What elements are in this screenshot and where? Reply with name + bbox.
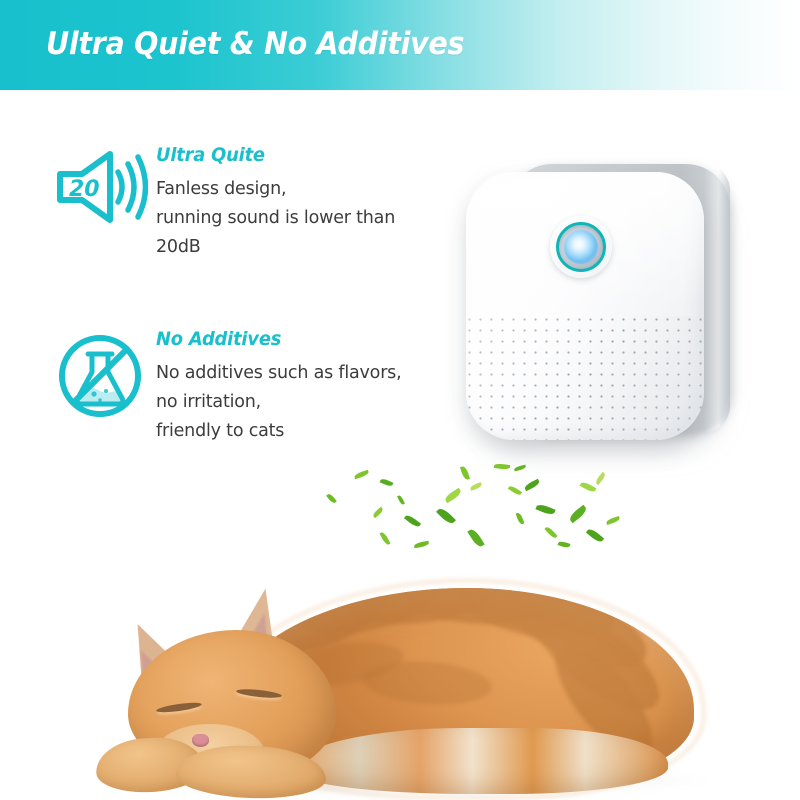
feature-body-line: 20dB [156, 233, 395, 262]
feature-block-no-additives: No Additives No additives such as flavor… [44, 326, 401, 446]
leaf [380, 478, 394, 488]
leaf [535, 503, 555, 517]
feature-heading: Ultra Quite [156, 144, 381, 166]
feature-heading: No Additives [156, 328, 387, 350]
leaf [580, 480, 597, 493]
leaf [514, 465, 527, 472]
feature-body-line: No additives such as flavors, [156, 359, 401, 388]
leaf [444, 488, 463, 503]
air-purifier-device [452, 152, 752, 472]
leaf [404, 513, 421, 528]
leaf [558, 540, 571, 548]
leaf [397, 495, 405, 506]
feature-block-ultra-quiet: 20 Ultra Quite Fanless design, running s… [44, 142, 395, 262]
feature-text-no-additives: No Additives No additives such as flavor… [156, 326, 401, 446]
device-vent-panel [466, 316, 704, 440]
leaf [380, 531, 391, 546]
speaker-icon-db-value: 20 [69, 177, 100, 202]
leaf [606, 516, 621, 525]
leaf [508, 485, 522, 497]
leaf [460, 465, 470, 480]
leaf [326, 493, 337, 505]
leaf [568, 505, 589, 524]
feature-body-line: friendly to cats [156, 417, 401, 446]
leaf [516, 512, 525, 525]
leaf [494, 463, 511, 470]
leaf [354, 470, 370, 479]
feature-body-line: no irritation, [156, 388, 401, 417]
sleeping-cat-photo [0, 556, 800, 800]
no-chemicals-flask-icon [44, 326, 156, 422]
feature-body-line: Fanless design, [156, 175, 395, 204]
leaf [372, 507, 384, 519]
leaf [470, 482, 483, 491]
leaf [414, 541, 430, 549]
leaf [436, 506, 456, 526]
header-banner: Ultra Quiet & No Additives [0, 0, 800, 90]
indicator-glow [564, 230, 598, 264]
product-marketing-page: Ultra Quiet & No Additives 20 Ultra Quit… [0, 0, 800, 800]
speaker-volume-icon: 20 [44, 142, 156, 226]
leaf [594, 472, 606, 485]
indicator-ring [556, 222, 606, 272]
feature-body: No additives such as flavors, no irritat… [156, 359, 401, 446]
cat-nose [192, 734, 209, 747]
feature-body: Fanless design, running sound is lower t… [156, 175, 395, 262]
page-title: Ultra Quiet & No Additives [46, 26, 464, 62]
leaf [523, 479, 540, 491]
leaf [467, 527, 484, 548]
feature-text-ultra-quiet: Ultra Quite Fanless design, running soun… [156, 142, 395, 262]
feature-body-line: running sound is lower than [156, 204, 395, 233]
cat-tail [292, 728, 668, 794]
device-front-face [466, 172, 704, 440]
vent-perforation-dots [466, 316, 704, 440]
leaf [544, 526, 557, 540]
floating-green-leaves [318, 452, 618, 562]
device-indicator-button [550, 216, 612, 278]
leaf [586, 527, 604, 544]
